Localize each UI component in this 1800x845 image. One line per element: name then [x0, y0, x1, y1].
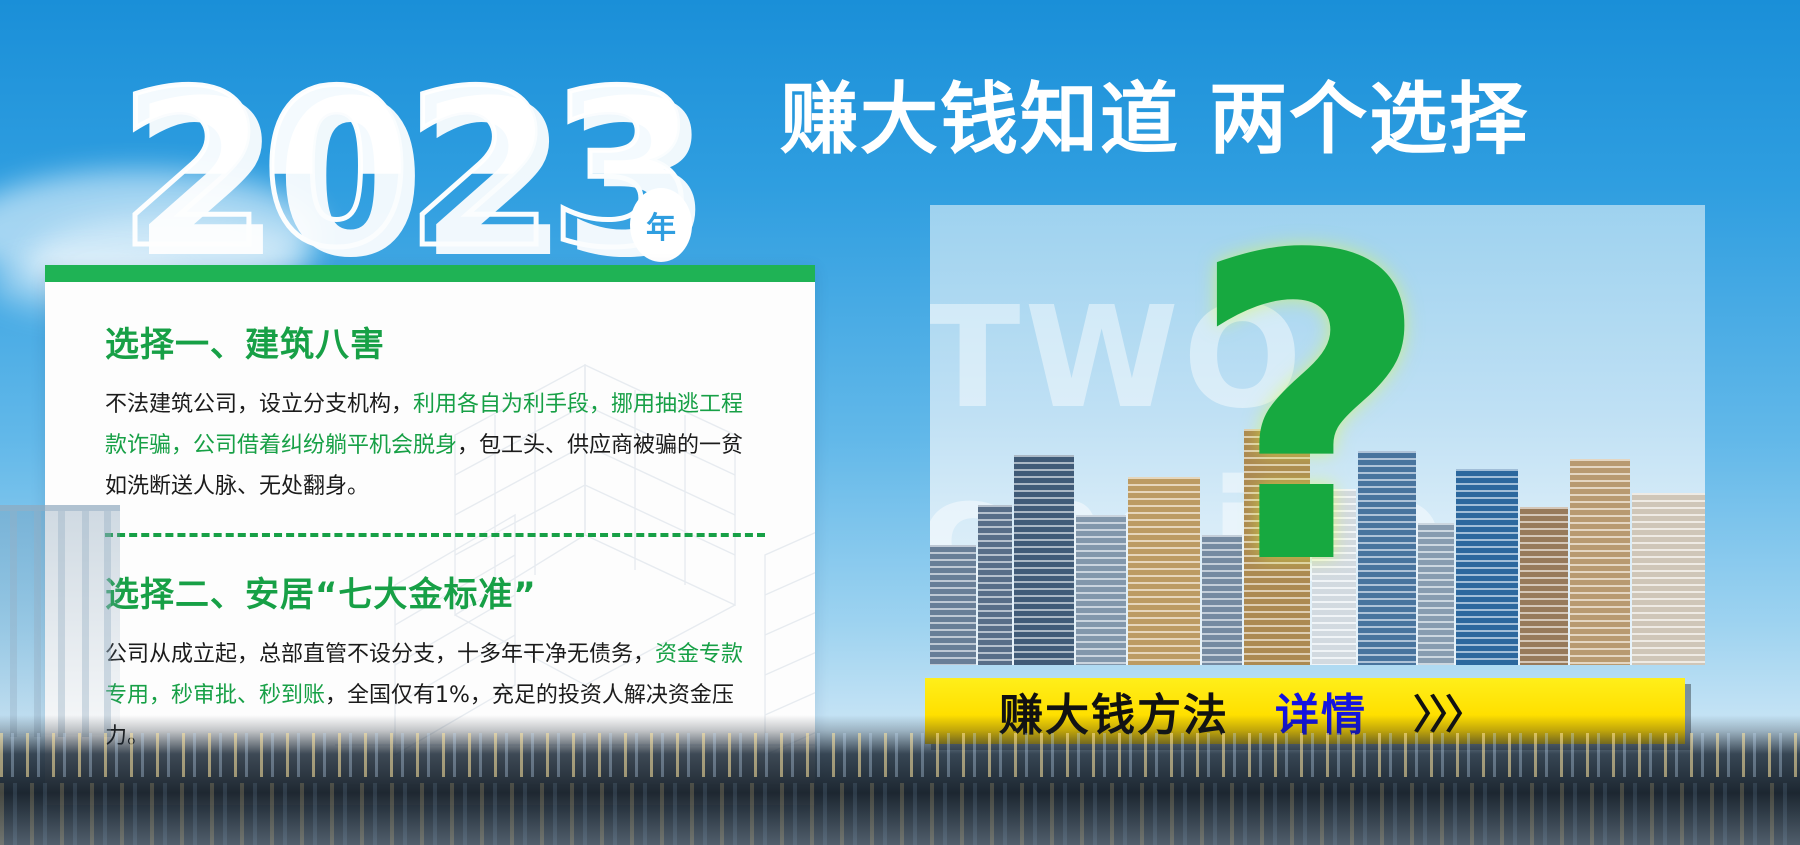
bridge-graphic: [0, 505, 120, 735]
bottom-city-strip: [0, 715, 1800, 845]
poster-banner: 2023 2023 年 赚大钱知道 两个选择 TWO choice ? 赚大: [0, 0, 1800, 845]
section-divider: [105, 533, 765, 537]
year-unit-badge: 年: [630, 188, 692, 262]
text-run: 不法建筑公司，设立分支机构，: [105, 392, 413, 417]
section-body-1: 不法建筑公司，设立分支机构，利用各自为利手段，挪用抽逃工程款诈骗，公司借着纠纷躺…: [105, 384, 765, 507]
page-title: 赚大钱知道 两个选择: [780, 78, 1529, 162]
section-title-2: 选择二、安居“七大金标准”: [105, 567, 765, 616]
text-run: 公司从成立起，总部直管不设分支，十多年干净无债务，: [105, 642, 655, 667]
city-photo-panel: TWO choice ?: [930, 205, 1705, 665]
section-title-1: 选择一、建筑八害: [105, 317, 765, 366]
question-mark-icon: ?: [1188, 223, 1432, 603]
